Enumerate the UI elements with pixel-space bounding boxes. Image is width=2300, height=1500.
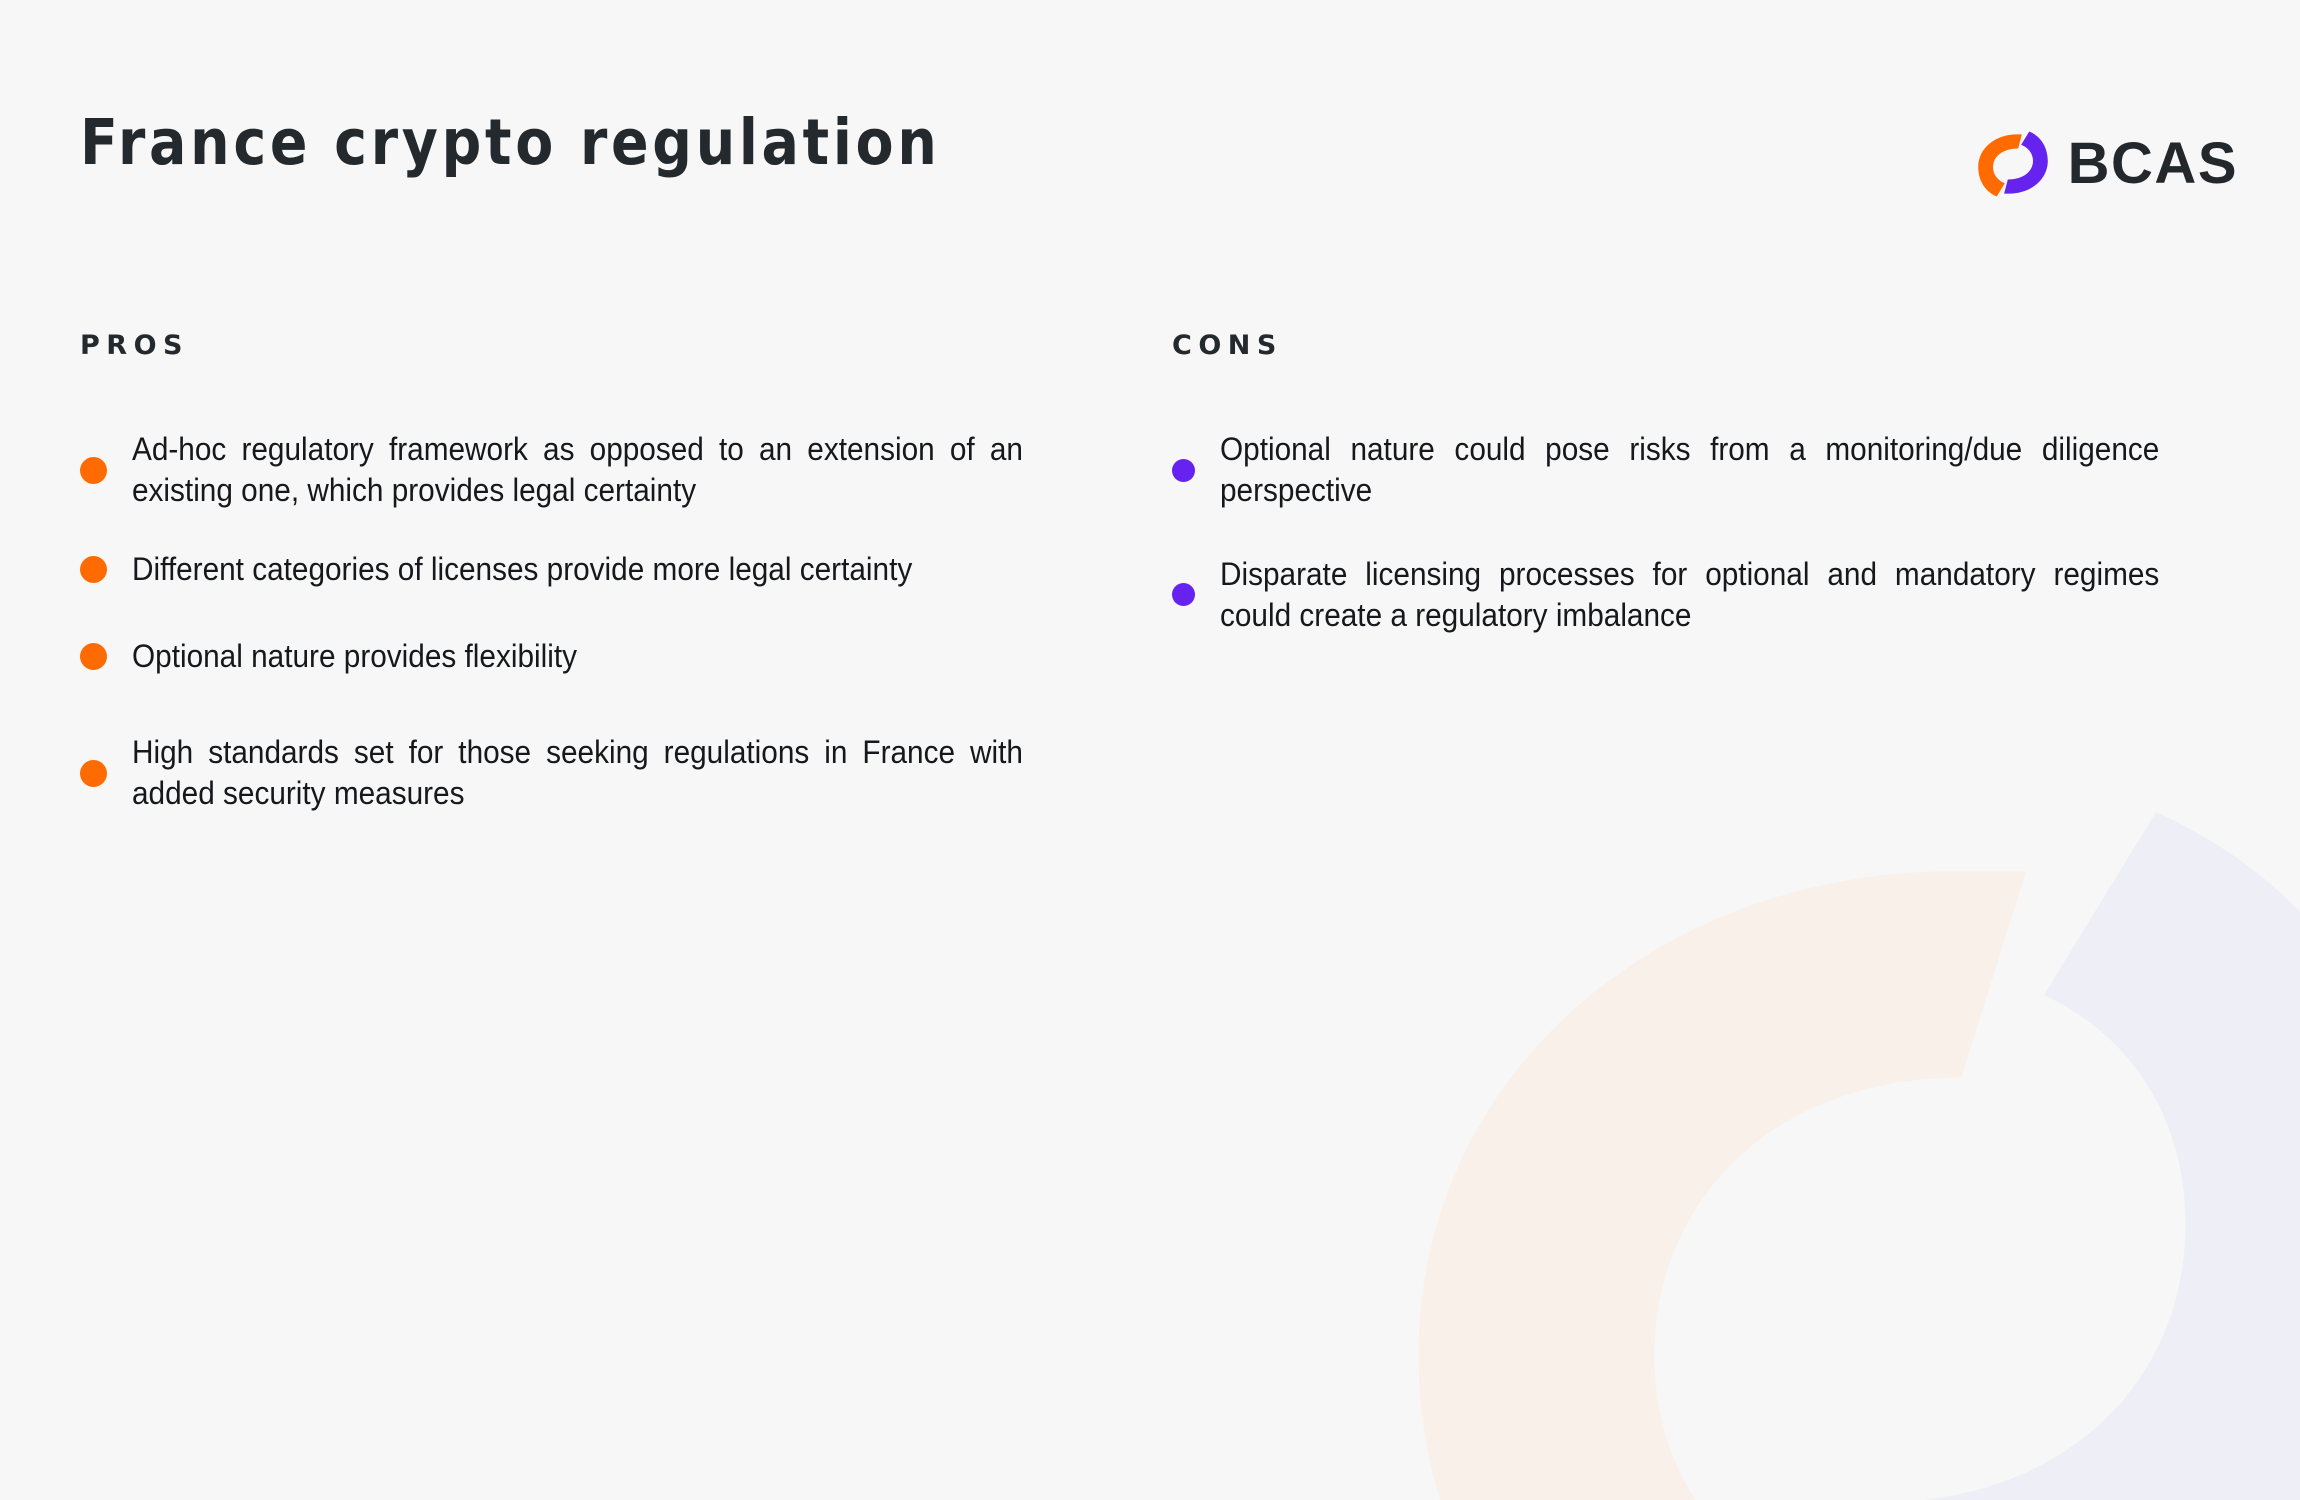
list-item-text: Ad-hoc regulatory framework as opposed t… xyxy=(132,429,1023,512)
bullet-dot-icon xyxy=(1172,583,1195,606)
cons-header: CONS xyxy=(1172,330,2230,361)
pros-list: Ad-hoc regulatory framework as opposed t… xyxy=(80,429,1090,815)
list-item-text: Disparate licensing processes for option… xyxy=(1220,554,2159,637)
pros-column: PROS Ad-hoc regulatory framework as oppo… xyxy=(80,330,1090,857)
list-item: High standards set for those seeking reg… xyxy=(80,732,1090,815)
bullet-dot-icon xyxy=(1172,459,1195,482)
pros-header: PROS xyxy=(80,330,1090,361)
bcas-logo: BCAS xyxy=(1976,128,2238,200)
list-item: Optional nature provides flexibility xyxy=(80,636,1090,677)
list-item: Different categories of licenses provide… xyxy=(80,549,1090,590)
bcas-logo-watermark-icon xyxy=(1330,700,2300,1500)
page-title: France crypto regulation xyxy=(80,106,941,179)
brand-name: BCAS xyxy=(2068,135,2238,193)
bcas-logo-mark-icon xyxy=(1976,128,2050,200)
list-item-text: Optional nature provides flexibility xyxy=(132,636,1023,677)
bullet-dot-icon xyxy=(80,643,107,670)
list-item: Disparate licensing processes for option… xyxy=(1172,554,2230,637)
cons-list: Optional nature could pose risks from a … xyxy=(1172,429,2230,636)
slide-canvas: France crypto regulation BCAS PROS Ad-ho… xyxy=(0,0,2300,1500)
bullet-dot-icon xyxy=(80,556,107,583)
list-item-text: High standards set for those seeking reg… xyxy=(132,732,1023,815)
list-item: Optional nature could pose risks from a … xyxy=(1172,429,2230,512)
bullet-dot-icon xyxy=(80,760,107,787)
bullet-dot-icon xyxy=(80,457,107,484)
list-item: Ad-hoc regulatory framework as opposed t… xyxy=(80,429,1090,512)
list-item-text: Optional nature could pose risks from a … xyxy=(1220,429,2159,512)
cons-column: CONS Optional nature could pose risks fr… xyxy=(1172,330,2230,678)
list-item-text: Different categories of licenses provide… xyxy=(132,549,1023,590)
